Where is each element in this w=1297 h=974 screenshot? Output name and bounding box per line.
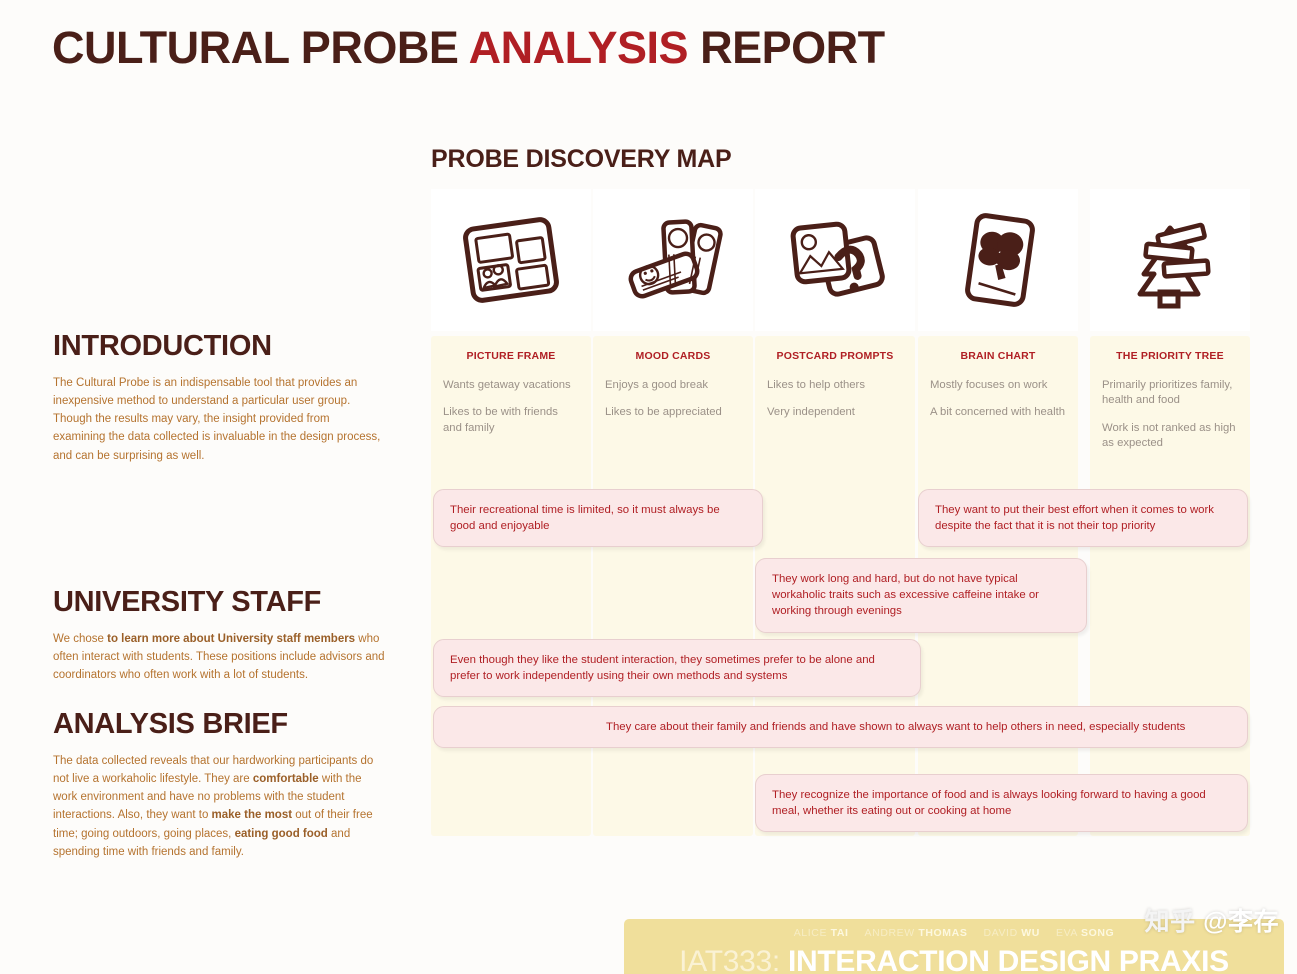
probe-point: Wants getaway vacations xyxy=(443,378,579,394)
author-name: ALICE TAI xyxy=(794,927,849,939)
probe-column-body: MOOD CARDS Enjoys a good break Likes to … xyxy=(593,336,753,836)
section-university-staff: UNIVERSITY STAFF We chose to learn more … xyxy=(53,586,389,684)
probe-column-title: POSTCARD PROMPTS xyxy=(767,350,903,364)
brain-chart-icon xyxy=(918,189,1078,331)
insight-independent: Even though they like the student intera… xyxy=(433,639,921,697)
title-part2: REPORT xyxy=(688,22,885,73)
university-staff-heading: UNIVERSITY STAFF xyxy=(53,586,389,619)
author-name: ANDREW THOMAS xyxy=(865,927,968,939)
title-part1: CULTURAL PROBE xyxy=(52,22,469,73)
probe-column-title: BRAIN CHART xyxy=(930,350,1066,364)
insight-family-friends: They care about their family and friends… xyxy=(433,706,1248,748)
author-name: DAVID WU xyxy=(983,927,1040,939)
insight-recreation: Their recreational time is limited, so i… xyxy=(433,489,763,547)
insight-best-effort: They want to put their best effort when … xyxy=(918,489,1248,547)
section-analysis-brief: ANALYSIS BRIEF The data collected reveal… xyxy=(53,708,383,861)
probe-column-body: PICTURE FRAME Wants getaway vacations Li… xyxy=(431,336,591,836)
author-name: EVA SONG xyxy=(1056,927,1114,939)
probe-point: Work is not ranked as high as expected xyxy=(1102,421,1238,452)
probe-point: Likes to be with friends and family xyxy=(443,405,579,436)
probe-point: A bit concerned with health xyxy=(930,405,1066,421)
probe-point: Likes to be appreciated xyxy=(605,405,741,421)
university-staff-body: We chose to learn more about University … xyxy=(53,630,389,684)
poster-page: CULTURAL PROBE ANALYSIS REPORT INTRODUCT… xyxy=(0,0,1297,974)
analysis-brief-heading: ANALYSIS BRIEF xyxy=(53,708,383,741)
probe-column-body: THE PRIORITY TREE Primarily prioritizes … xyxy=(1090,336,1250,836)
introduction-body: The Cultural Probe is an indispensable t… xyxy=(53,374,383,465)
probe-point: Very independent xyxy=(767,405,903,421)
probe-discovery-map-title: PROBE DISCOVERY MAP xyxy=(431,145,731,174)
footer-course: IAT333: INTERACTION DESIGN PRAXIS xyxy=(624,945,1284,974)
university-staff-body-bold: to learn more about University staff mem… xyxy=(107,633,355,645)
analysis-bold-c: eating good food xyxy=(235,828,328,840)
analysis-bold-a: comfortable xyxy=(253,773,319,785)
probe-point: Likes to help others xyxy=(767,378,903,394)
footer-course-name: INTERACTION DESIGN PRAXIS xyxy=(788,945,1229,974)
probe-column-title: MOOD CARDS xyxy=(605,350,741,364)
probe-column-title: PICTURE FRAME xyxy=(443,350,579,364)
mood-cards-icon xyxy=(593,189,753,331)
footer-course-code: IAT333: xyxy=(679,945,788,974)
picture-frame-icon xyxy=(431,189,591,331)
probe-column-title: THE PRIORITY TREE xyxy=(1102,350,1238,364)
footer-authors: ALICE TAIANDREW THOMASDAVID WUEVA SONG xyxy=(624,927,1284,939)
probe-point: Mostly focuses on work xyxy=(930,378,1066,394)
section-introduction: INTRODUCTION The Cultural Probe is an in… xyxy=(53,330,383,465)
analysis-brief-body: The data collected reveals that our hard… xyxy=(53,752,383,861)
footer-banner: ALICE TAIANDREW THOMASDAVID WUEVA SONG I… xyxy=(624,919,1284,974)
introduction-heading: INTRODUCTION xyxy=(53,330,383,363)
probe-point: Enjoys a good break xyxy=(605,378,741,394)
postcard-prompts-icon xyxy=(755,189,915,331)
probe-point: Primarily prioritizes family, health and… xyxy=(1102,378,1238,409)
title-accent: ANALYSIS xyxy=(469,22,688,73)
analysis-bold-b: make the most xyxy=(212,809,293,821)
university-staff-body-pre: We chose xyxy=(53,633,107,645)
page-title: CULTURAL PROBE ANALYSIS REPORT xyxy=(52,22,885,74)
insight-not-workaholic: They work long and hard, but do not have… xyxy=(755,558,1087,633)
priority-tree-icon xyxy=(1090,189,1250,331)
insight-food: They recognize the importance of food an… xyxy=(755,774,1248,832)
